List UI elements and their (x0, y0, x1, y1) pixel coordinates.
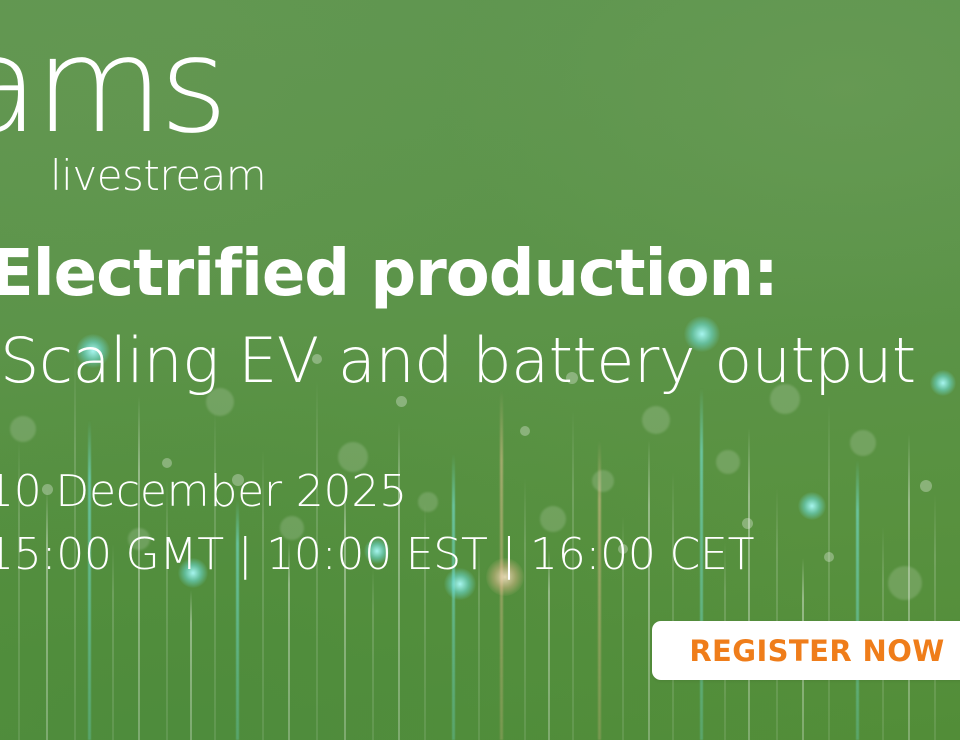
event-schedule: 10 December 2025 15:00 GMT | 10:00 EST |… (0, 470, 754, 577)
headline-secondary: Scaling EV and battery output (0, 329, 960, 392)
logo-sublabel-livestream: livestream (50, 155, 266, 197)
event-timezones: 15:00 GMT | 10:00 EST | 16:00 CET (0, 533, 754, 577)
headline: Electrified production: Scaling EV and b… (0, 242, 960, 393)
event-date: 10 December 2025 (0, 470, 754, 514)
headline-primary: Electrified production: (0, 242, 960, 307)
livestream-promo-banner: ams livestream Electrified production: S… (0, 0, 960, 740)
ams-logo: ams livestream (0, 26, 266, 197)
register-now-label: REGISTER NOW (689, 634, 944, 668)
register-now-button[interactable]: REGISTER NOW (652, 621, 960, 680)
logo-wordmark: ams (0, 26, 266, 147)
